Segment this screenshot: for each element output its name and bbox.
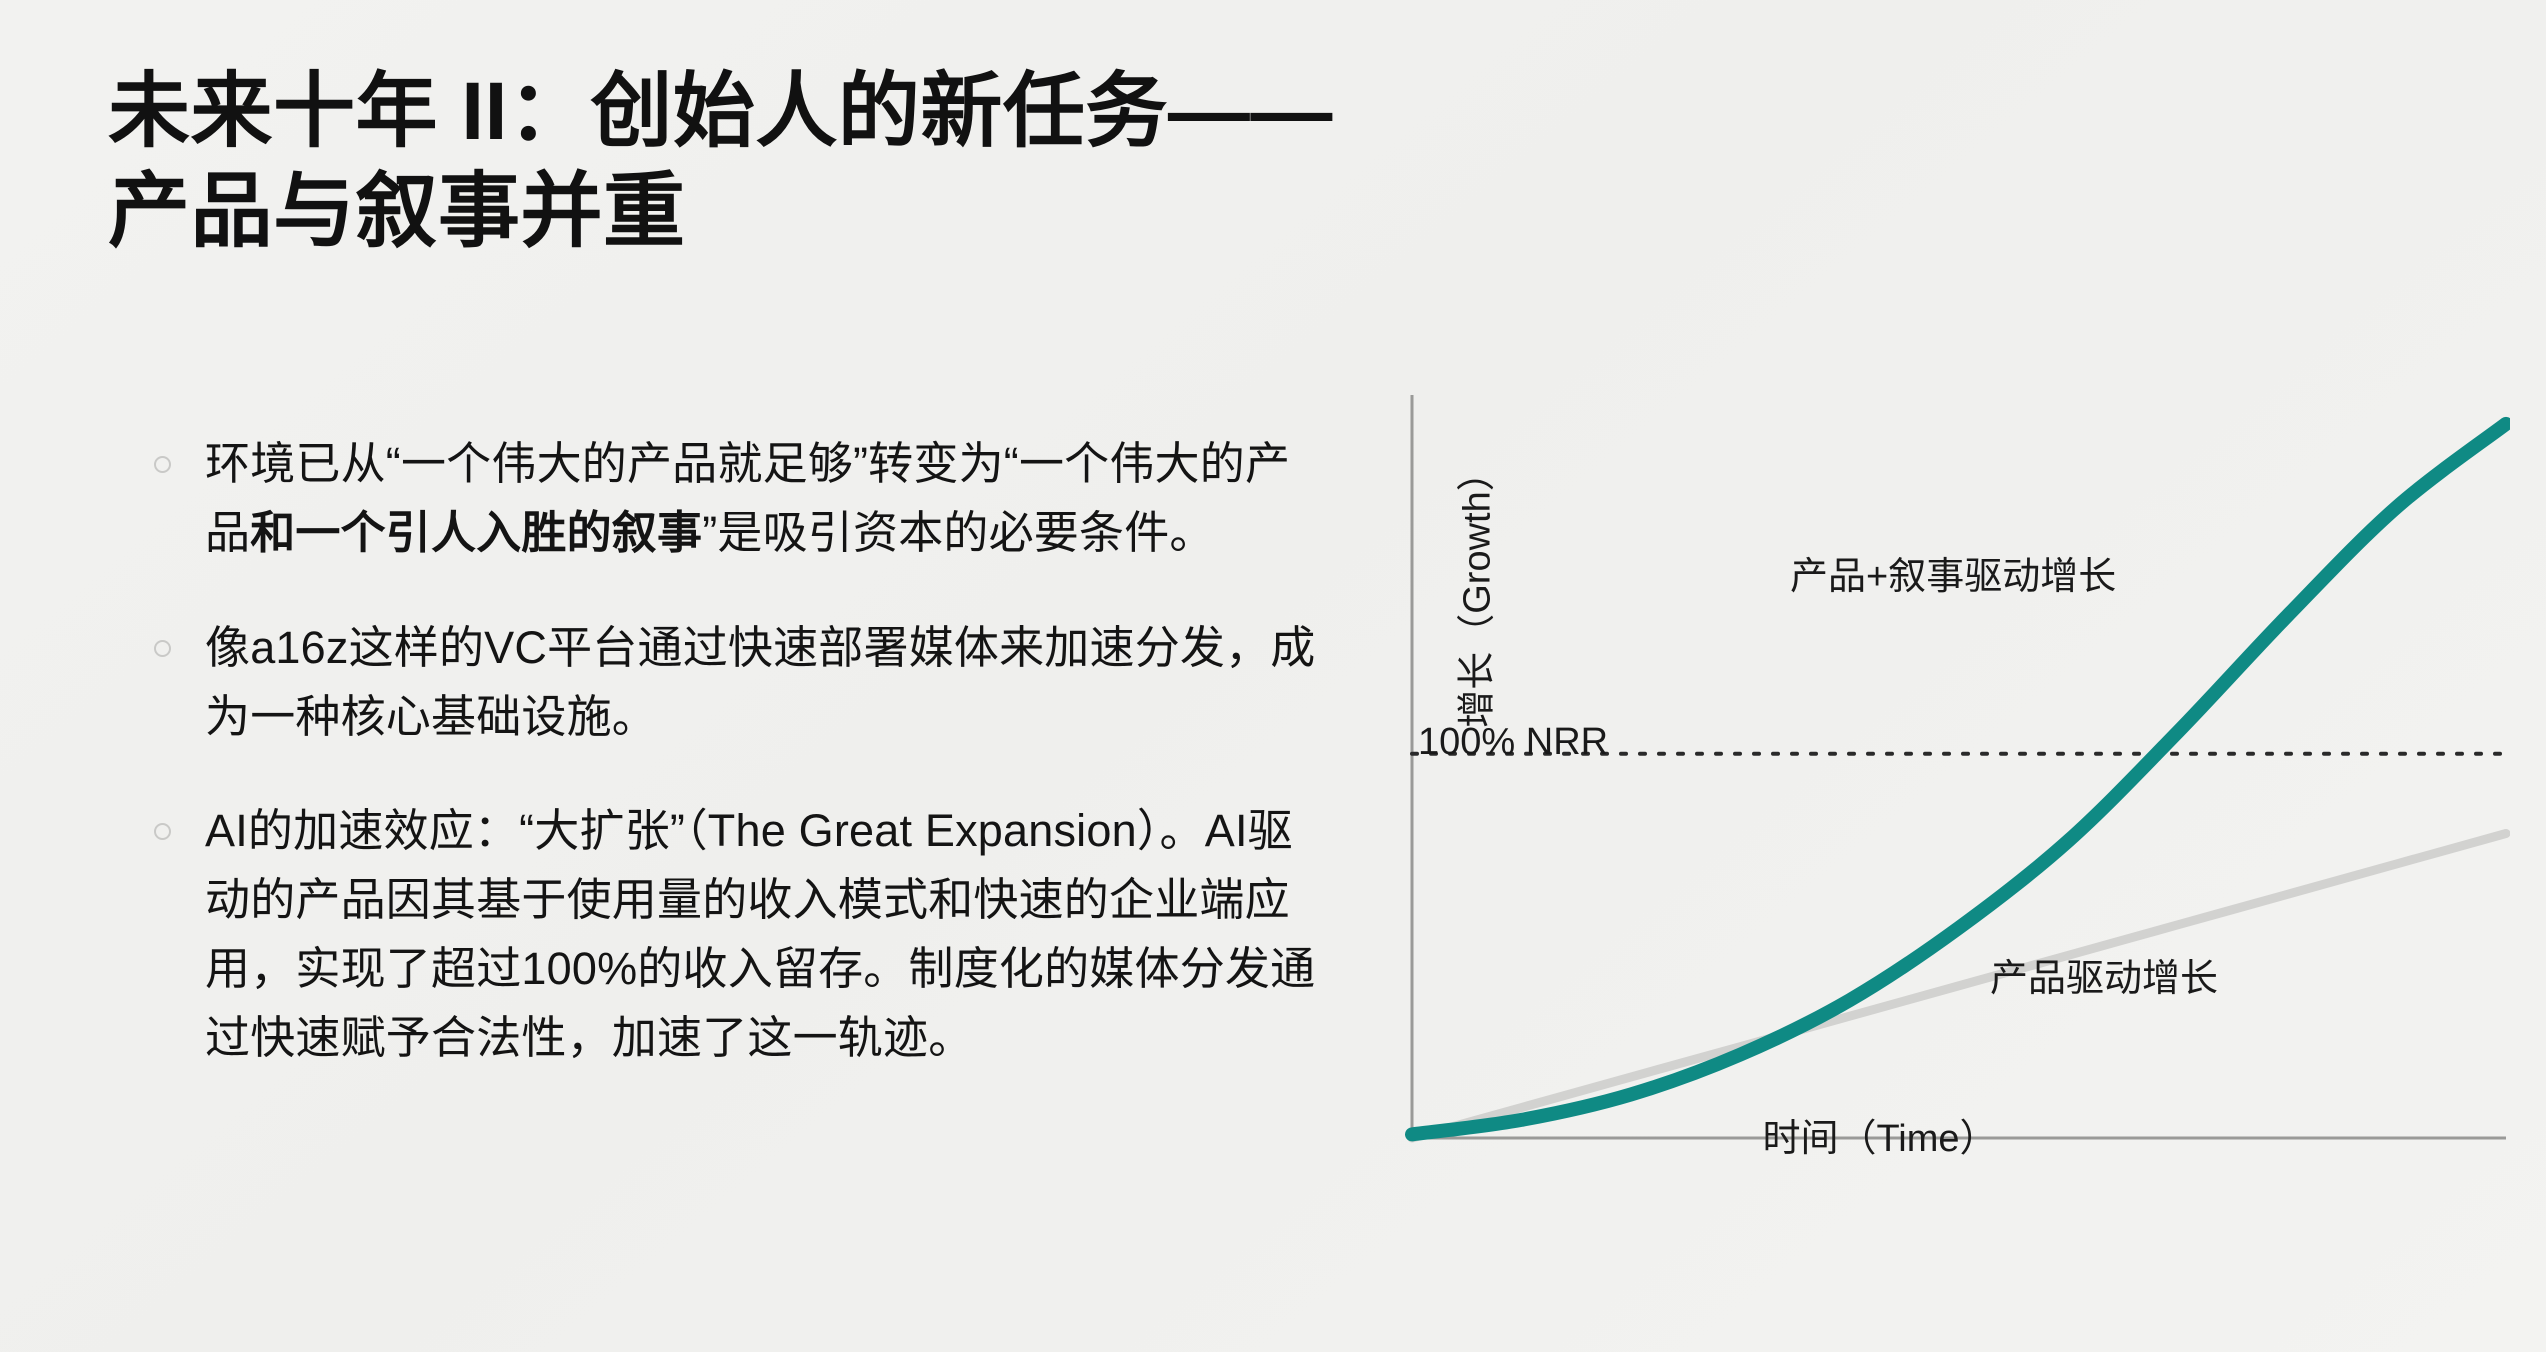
title-line-1: 未来十年 II：创始人的新任务—— [108,62,1708,162]
list-item: 像a16z这样的VC平台通过快速部署媒体来加速分发，成为一种核心基础设施。 [150,614,1325,752]
bullet-circle-icon [154,823,171,840]
chart-svg [1330,395,2510,1195]
bullet-text-2: 像a16z这样的VC平台通过快速部署媒体来加速分发，成为一种核心基础设施。 [205,614,1325,752]
page-title: 未来十年 II：创始人的新任务—— 产品与叙事并重 [108,62,1708,262]
y-axis-label: 增长（Growth） [1446,426,1501,756]
bullet-text-1: 环境已从“一个伟大的产品就足够”转变为“一个伟大的产品和一个引人入胜的叙事”是吸… [205,430,1325,568]
bullet-circle-icon [154,640,171,657]
bullet-1-bold: 和一个引人入胜的叙事 [250,507,702,558]
growth-chart: 增长（Growth） 时间（Time） 100% NRR 产品+叙事驱动增长 产… [1330,395,2510,1195]
nrr-annotation-label: 100% NRR [1418,721,1608,764]
series-label-product: 产品驱动增长 [1990,947,2218,1002]
list-item: AI的加速效应：“大扩张”（The Great Expansion）。AI驱动的… [150,797,1325,1072]
slide-canvas: 未来十年 II：创始人的新任务—— 产品与叙事并重 环境已从“一个伟大的产品就足… [0,0,2546,1352]
bullet-1-suffix: ”是吸引资本的必要条件。 [702,507,1214,558]
x-axis-label: 时间（Time） [1630,1107,2130,1162]
series-line-product-narrative [1412,424,2506,1135]
bullet-circle-icon [154,456,171,473]
bullet-text-3: AI的加速效应：“大扩张”（The Great Expansion）。AI驱动的… [205,797,1325,1072]
list-item: 环境已从“一个伟大的产品就足够”转变为“一个伟大的产品和一个引人入胜的叙事”是吸… [150,430,1325,568]
title-line-2: 产品与叙事并重 [108,162,1708,262]
series-line-product [1412,834,2506,1139]
series-label-product-narrative: 产品+叙事驱动增长 [1790,545,2116,600]
bullet-list: 环境已从“一个伟大的产品就足够”转变为“一个伟大的产品和一个引人入胜的叙事”是吸… [150,430,1325,1073]
